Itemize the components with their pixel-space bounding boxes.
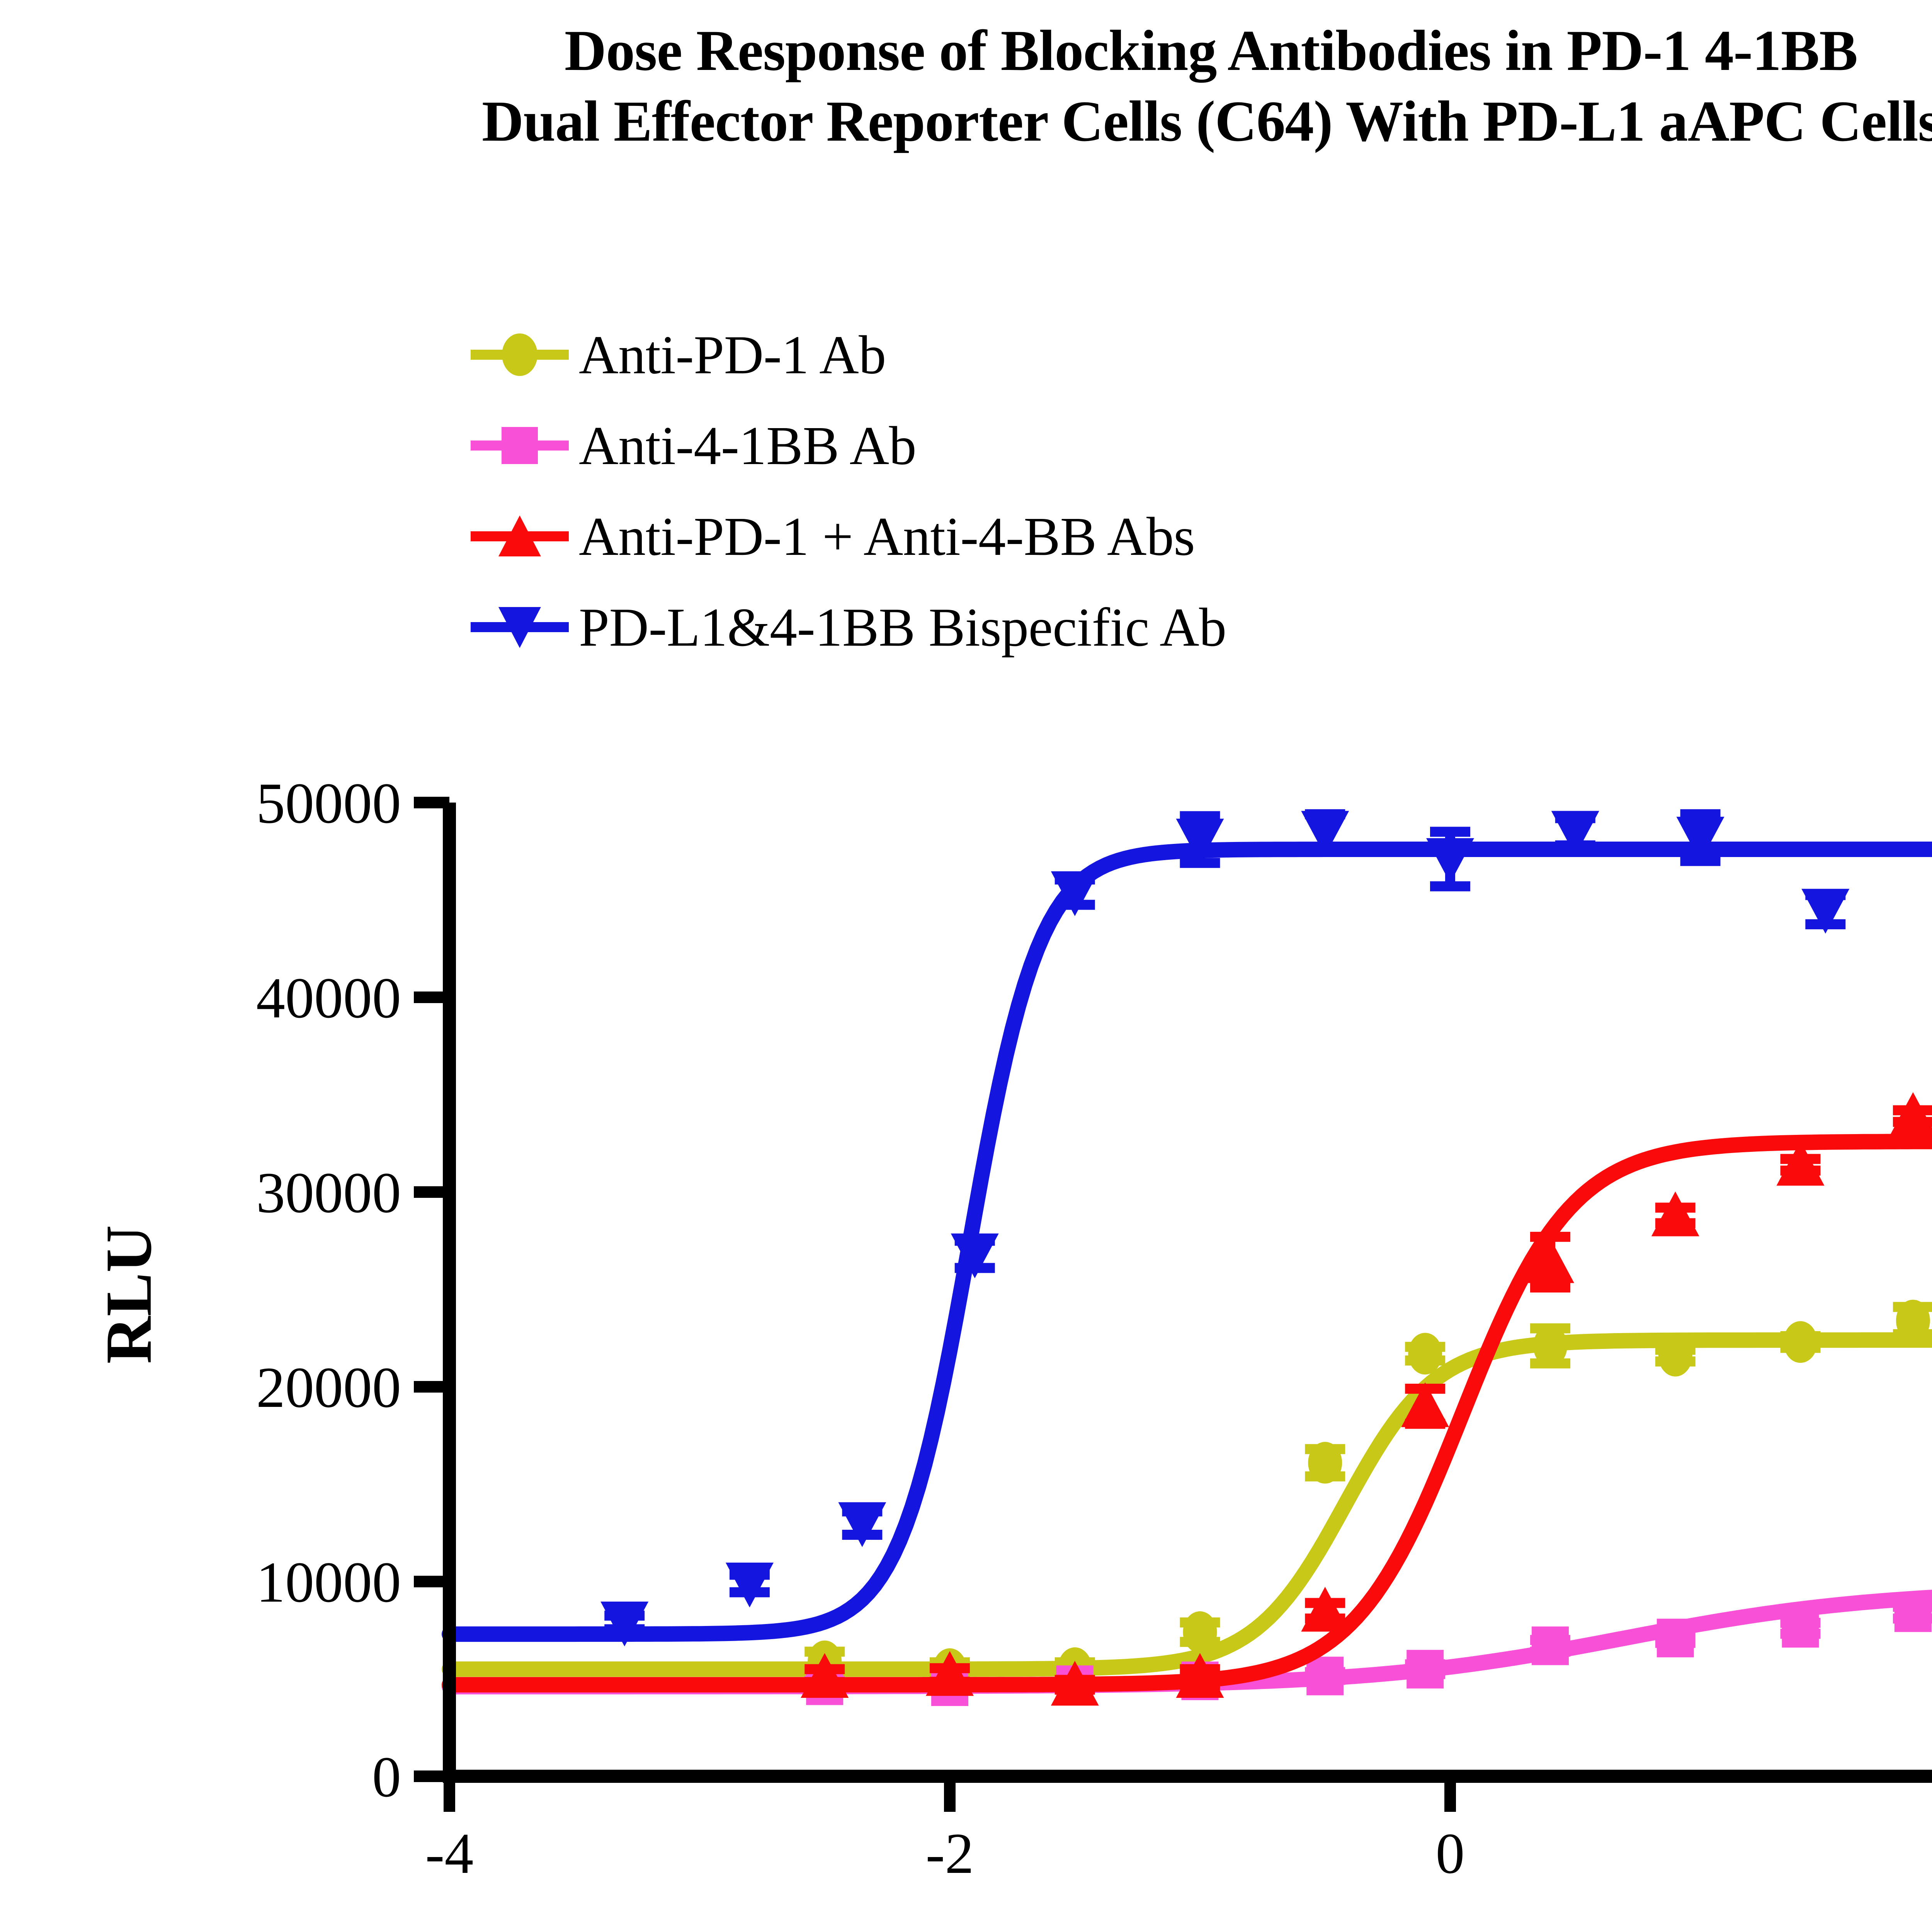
chart-figure: Dose Response of Blocking Antibodies in … (0, 0, 1932, 1932)
data-point-marker (1533, 1325, 1567, 1367)
data-point-marker (1308, 1442, 1342, 1484)
y-axis-title: RLU (92, 1225, 165, 1364)
chart-plot-area: 01000020000300004000050000-4-202 RLU Log… (0, 0, 1932, 1932)
y-axis-tick-label: 40000 (256, 966, 401, 1030)
data-point-marker (1896, 1300, 1930, 1342)
data-point-marker (1784, 1321, 1818, 1363)
data-point-marker (1408, 1333, 1442, 1374)
data-point-marker (726, 1563, 774, 1607)
y-axis-tick-label: 50000 (256, 771, 401, 835)
data-point-marker (1651, 1191, 1699, 1236)
data-point-marker (1658, 1335, 1692, 1376)
y-axis-tick-label: 20000 (256, 1355, 401, 1420)
data-point-marker (1426, 838, 1474, 883)
y-axis-tick-label: 0 (372, 1745, 401, 1809)
x-axis-tick-label: -2 (926, 1821, 974, 1886)
data-series-layer (449, 811, 1932, 1706)
data-point-marker (1183, 1611, 1217, 1653)
data-point-marker (1657, 1619, 1694, 1657)
y-axis-tick-label: 10000 (256, 1550, 401, 1614)
x-axis-tick-label: 0 (1436, 1821, 1465, 1886)
data-point-marker (1301, 1587, 1349, 1632)
x-axis-tick-label: -4 (425, 1821, 474, 1886)
data-point-marker (1782, 1609, 1819, 1648)
data-point-marker (1406, 1650, 1444, 1689)
data-point-marker (1532, 1626, 1569, 1665)
y-axis-tick-label: 30000 (256, 1161, 401, 1225)
data-series (449, 1092, 1932, 1706)
data-point-marker (1895, 1594, 1932, 1632)
fit-curve (449, 849, 1932, 1634)
data-point-marker (838, 1502, 886, 1547)
data-series (449, 811, 1932, 1646)
fit-curve (449, 1141, 1932, 1685)
data-point-marker (1306, 1656, 1344, 1695)
axis-tick-label-layer: 01000020000300004000050000-4-202 (256, 771, 1932, 1886)
